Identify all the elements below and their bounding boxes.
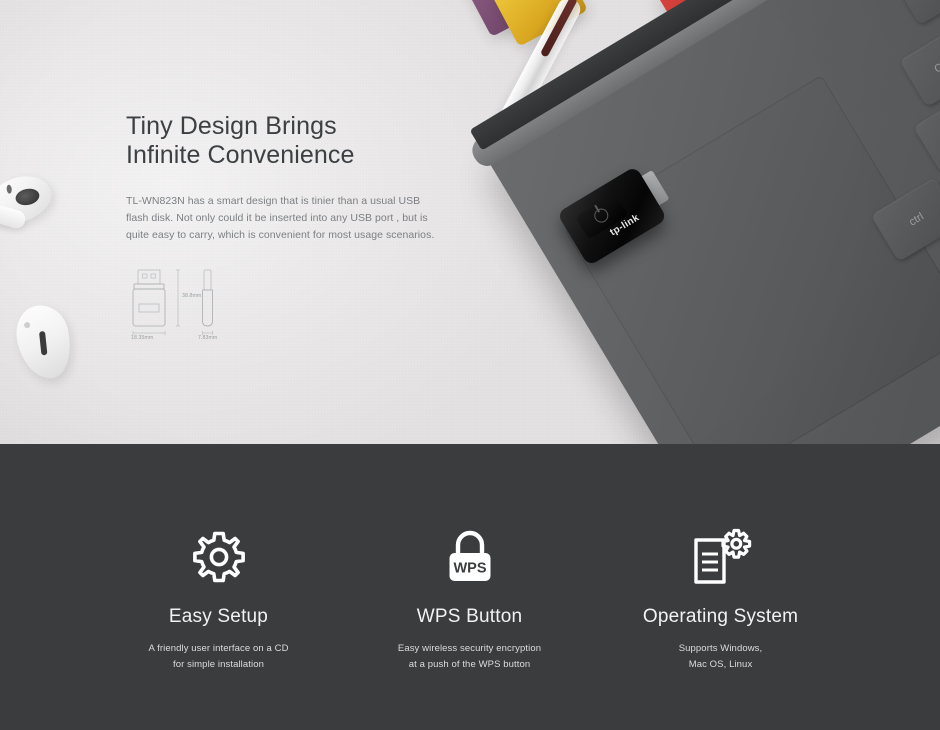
feature-desc-line2: for simple installation [93, 657, 344, 673]
feature-title: WPS Button [344, 606, 595, 628]
wps-icon-text: WPS [453, 561, 486, 577]
hero-heading-line2: Infinite Convenience [126, 141, 436, 170]
feature-easy-setup: Easy Setup A friendly user interface on … [93, 444, 344, 673]
wps-lock-icon: WPS [344, 512, 595, 586]
feature-desc-line2: at a push of the WPS button [344, 657, 595, 673]
document-gear-icon [595, 512, 846, 586]
dimension-depth-label: 7.83mm [198, 335, 217, 341]
feature-description: A friendly user interface on a CD for si… [93, 641, 344, 673]
features-section: Easy Setup A friendly user interface on … [0, 444, 940, 730]
dimension-width-label: 18.35mm [131, 335, 153, 341]
features-row: Easy Setup A friendly user interface on … [0, 444, 940, 673]
feature-description: Supports Windows, Mac OS, Linux [595, 641, 846, 673]
hero-body-text: TL-WN823N has a smart design that is tin… [126, 193, 436, 244]
feature-title: Easy Setup [93, 606, 344, 628]
hero-section: ctrl Shift Caps Lock A Z fn X S tp-link [0, 0, 940, 444]
feature-desc-line1: A friendly user interface on a CD [93, 641, 344, 657]
dimension-diagram: 38.8mm 18.35mm 7.83mm [126, 268, 266, 348]
hero-copy: Tiny Design Brings Infinite Convenience … [126, 112, 436, 244]
hero-heading-line1: Tiny Design Brings [126, 112, 436, 141]
feature-desc-line1: Supports Windows, [595, 641, 846, 657]
feature-description: Easy wireless security encryption at a p… [344, 641, 595, 673]
feature-wps-button: WPS WPS Button Easy wireless security en… [344, 444, 595, 673]
feature-desc-line2: Mac OS, Linux [595, 657, 846, 673]
gear-icon [93, 512, 344, 586]
feature-desc-line1: Easy wireless security encryption [344, 641, 595, 657]
feature-operating-system: Operating System Supports Windows, Mac O… [595, 444, 846, 673]
product-page: ctrl Shift Caps Lock A Z fn X S tp-link [0, 0, 940, 730]
dimension-height-label: 38.8mm [182, 293, 201, 299]
feature-title: Operating System [595, 606, 846, 628]
